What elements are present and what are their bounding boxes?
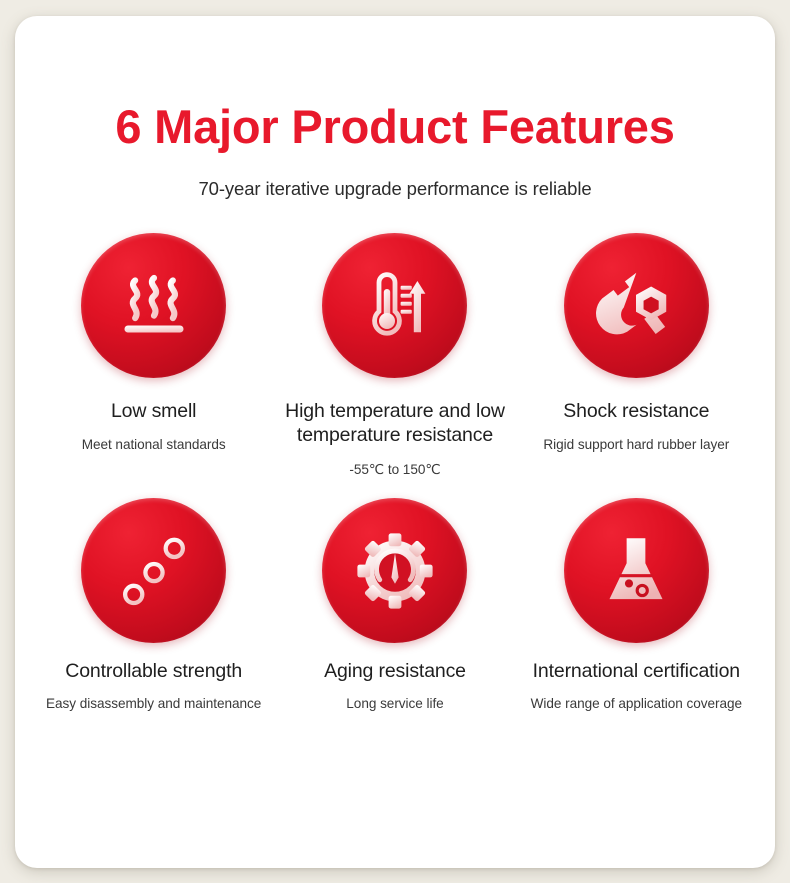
feature-item-aging-resistance[interactable]: Aging resistance Long service life: [274, 498, 515, 712]
odor-waves-icon: [113, 264, 195, 346]
features-grid: Low smell Meet national standards: [33, 233, 757, 712]
feature-description: Easy disassembly and maintenance: [46, 695, 261, 713]
feature-item-low-smell[interactable]: Low smell Meet national standards: [33, 233, 274, 478]
feature-title: Low smell: [111, 399, 196, 423]
feature-title: International certification: [533, 659, 740, 683]
feature-icon-badge: [322, 233, 467, 378]
page-subtitle: 70-year iterative upgrade performance is…: [33, 178, 757, 200]
feature-icon-badge: [81, 233, 226, 378]
feature-title: High temperature and low temperature res…: [274, 399, 515, 448]
lab-flask-icon: [597, 532, 675, 610]
feature-item-controllable-strength[interactable]: Controllable strength Easy disassembly a…: [33, 498, 274, 712]
feature-item-international-certification[interactable]: International certification Wide range o…: [516, 498, 757, 712]
thermometer-arrow-icon: [355, 265, 435, 345]
wrench-nut-icon: [594, 263, 678, 347]
feature-title: Aging resistance: [324, 659, 466, 683]
product-features-card: 6 Major Product Features 70-year iterati…: [15, 16, 775, 868]
gear-gauge-icon: [355, 531, 435, 611]
feature-icon-badge: [564, 233, 709, 378]
feature-description: -55℃ to 150℃: [349, 461, 440, 479]
feature-icon-badge: [564, 498, 709, 643]
feature-description: Meet national standards: [82, 436, 226, 454]
feature-description: Rigid support hard rubber layer: [543, 436, 729, 454]
feature-icon-badge: [322, 498, 467, 643]
feature-title: Controllable strength: [65, 659, 242, 683]
feature-description: Long service life: [346, 695, 443, 713]
card-header: 6 Major Product Features 70-year iterati…: [33, 16, 757, 200]
feature-icon-badge: [81, 498, 226, 643]
feature-description: Wide range of application coverage: [531, 695, 742, 713]
feature-item-temperature-resistance[interactable]: High temperature and low temperature res…: [274, 233, 515, 478]
feature-item-shock-resistance[interactable]: Shock resistance Rigid support hard rubb…: [516, 233, 757, 478]
sliders-icon: [115, 532, 193, 610]
feature-title: Shock resistance: [563, 399, 709, 423]
page-title: 6 Major Product Features: [33, 102, 757, 151]
